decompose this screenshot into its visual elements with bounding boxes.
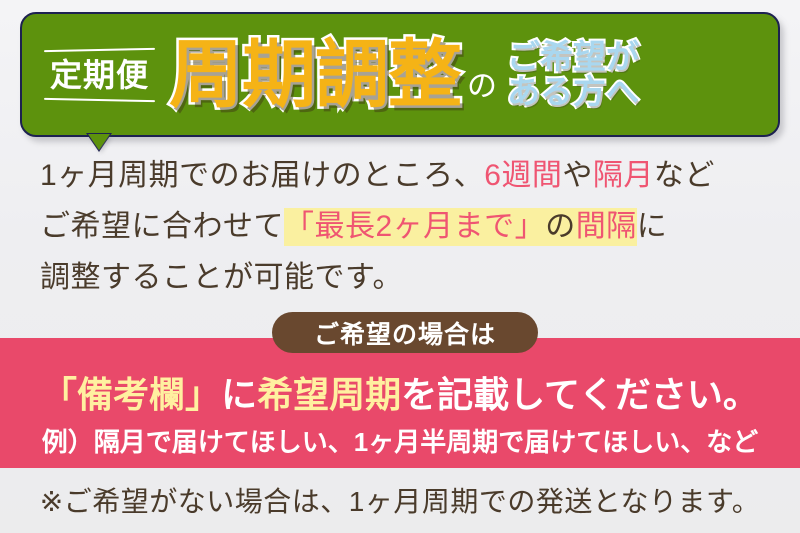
promo-banner-page: 定期便 周期調整 の ご希望が ある方へ 1ヶ月周期でのお届けのところ、6週間や… (0, 0, 800, 533)
description-line-3: 調整することが可能です。 (40, 252, 780, 303)
desc-l2-b: 「最長2ヶ月まで」 (284, 208, 545, 246)
banner-subtitle-line2: ある方へ (507, 75, 639, 109)
header-banner: 定期便 周期調整 の ご希望が ある方へ (20, 12, 780, 137)
header-banner-box: 定期便 周期調整 の ご希望が ある方へ (20, 12, 780, 137)
request-case-pill-label: ご希望の場合は (314, 315, 496, 351)
instruction-band: 「備考欄」に希望周期を記載してください。 例）隔月で届けてほしい、1ヶ月半周期で… (0, 338, 800, 468)
instruction-example-text: 例）隔月で届けてほしい、1ヶ月半周期で届けてほしい、など (0, 422, 800, 459)
badge-rule-top (44, 47, 155, 51)
request-case-pill: ご希望の場合は (272, 312, 538, 353)
banner-subtitle-line1: ご希望が (507, 40, 639, 74)
desc-l1-a: 1ヶ月周期でのお届けのところ、 (40, 159, 484, 192)
instruction-remarks-field: 「備考欄」 (41, 374, 221, 415)
footer-note: ※ご希望がない場合は、1ヶ月周期での発送となります。 (0, 480, 800, 520)
instruction-main-b: に (221, 374, 257, 415)
description-line-1: 1ヶ月周期でのお届けのところ、6週間や隔月など (40, 150, 780, 201)
desc-l2-e: に (637, 210, 668, 243)
subscription-badge: 定期便 (44, 47, 155, 103)
desc-l1-c: や (562, 159, 593, 192)
banner-subtitle: ご希望が ある方へ (507, 40, 639, 109)
banner-headline: 周期調整 (169, 38, 461, 112)
desc-l1-b: 6週間 (484, 159, 562, 192)
desc-l1-e: など (654, 159, 715, 192)
instruction-main-d: を記載してください。 (401, 374, 759, 415)
instruction-main-text: 「備考欄」に希望周期を記載してください。 (0, 366, 800, 418)
subscription-badge-label: 定期便 (50, 57, 149, 93)
badge-rule-bottom (44, 97, 155, 101)
desc-l1-d: 隔月 (593, 159, 654, 192)
description-line-2: ご希望に合わせて「最長2ヶ月まで」の間隔に (40, 201, 780, 252)
banner-particle: の (467, 61, 497, 105)
desc-l2-d: 間隔 (576, 208, 637, 246)
description-paragraph: 1ヶ月周期でのお届けのところ、6週間や隔月など ご希望に合わせて「最長2ヶ月まで… (40, 150, 780, 303)
desc-l2-a: ご希望に合わせて (40, 210, 284, 243)
instruction-desired-cycle: 希望周期 (257, 374, 401, 415)
desc-l2-c: の (545, 208, 576, 246)
speech-bubble-tail (88, 134, 110, 150)
